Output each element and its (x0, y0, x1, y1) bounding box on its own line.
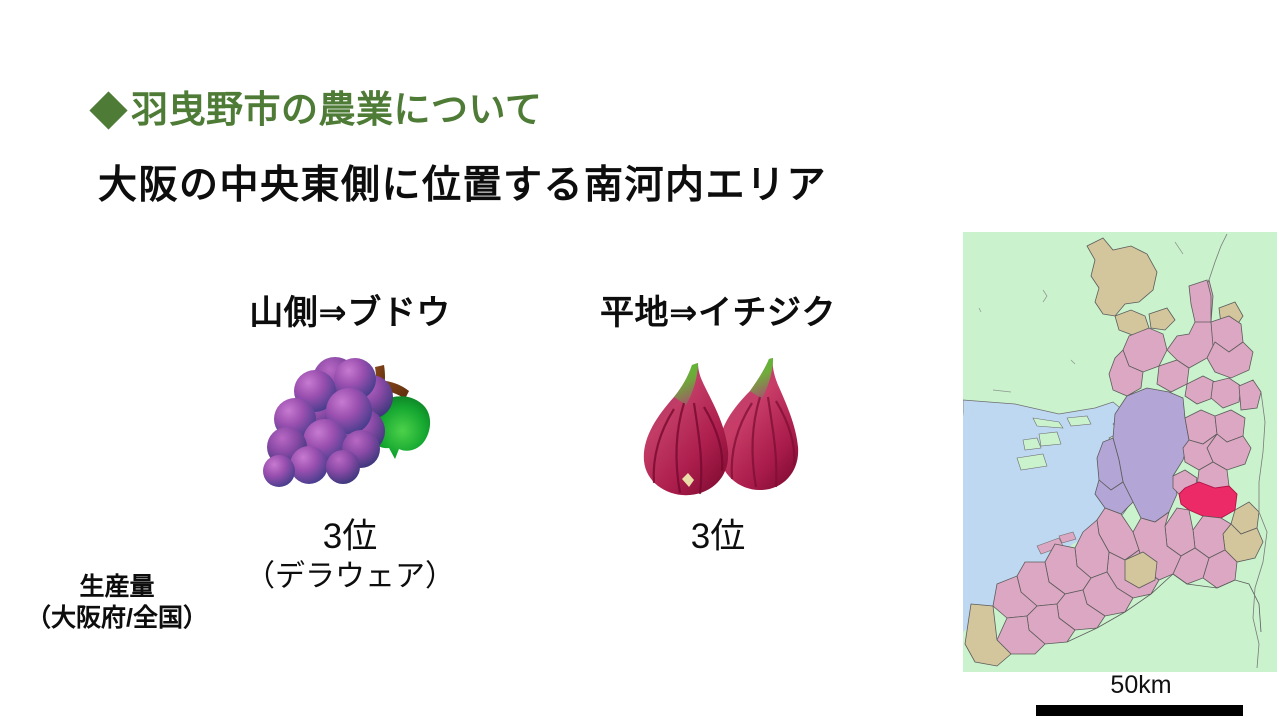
produce-rank-grape: 3位 (200, 517, 500, 557)
subtitle-text: 大阪の中央東側に位置する南河内エリア (98, 165, 827, 208)
produce-label-grape: 山側⇒ブドウ (200, 285, 500, 334)
produce-column-grape: 山側⇒ブドウ (200, 285, 500, 595)
section-heading-text: 羽曳野市の農業について (131, 90, 542, 131)
produce-label-fig: 平地⇒イチジク (568, 285, 868, 334)
figs-icon (568, 340, 868, 515)
diamond-bullet-icon (89, 91, 127, 129)
slide-canvas: 羽曳野市の農業について 大阪の中央東側に位置する南河内エリア 山側⇒ブドウ (0, 0, 1280, 720)
production-volume-legend: 生産量 （大阪府/全国） (8, 572, 226, 635)
produce-variety-grape: （デラウェア） (200, 559, 500, 595)
production-legend-line1: 生産量 (8, 572, 226, 603)
osaka-prefecture-map (963, 232, 1277, 672)
production-legend-line2: （大阪府/全国） (8, 603, 226, 634)
map-scale-bar (1036, 705, 1243, 716)
map-scale-label: 50km (963, 672, 1277, 698)
produce-rank-fig: 3位 (568, 517, 868, 557)
grapes-icon (200, 340, 500, 515)
osaka-map-panel: 50km (963, 232, 1277, 720)
section-heading: 羽曳野市の農業について (95, 90, 542, 131)
map-scale: 50km (963, 672, 1277, 720)
produce-column-fig: 平地⇒イチジク (568, 285, 868, 559)
